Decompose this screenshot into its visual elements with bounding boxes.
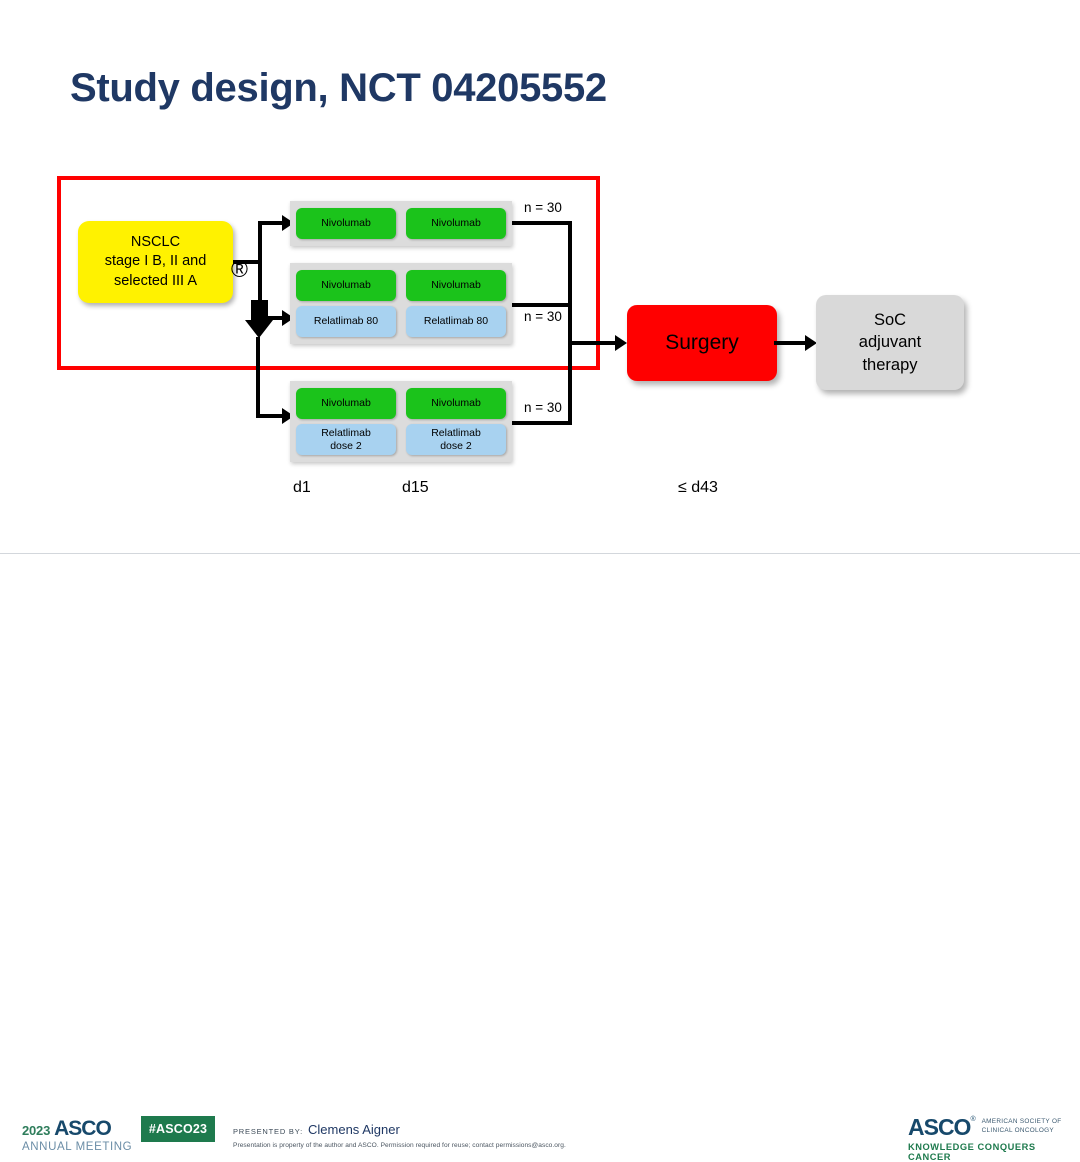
- connector-to-arm-1: [258, 221, 284, 225]
- arrow-down-icon: [245, 320, 273, 338]
- population-box: NSCLC stage I B, II and selected III A: [78, 221, 233, 303]
- population-line-2: stage I B, II and: [105, 253, 207, 269]
- drug-chip-nivolumab: Nivolumab: [406, 208, 506, 239]
- slide-footer: 2023 ASCO ANNUAL MEETING #ASCO23 PRESENT…: [0, 554, 1080, 608]
- arm-3-n-label: n = 30: [524, 400, 562, 415]
- drug-chip-relatlimab: Relatlimab dose 2: [406, 424, 506, 455]
- population-line-1: NSCLC: [131, 234, 180, 250]
- asco-annual-meeting-logo: 2023 ASCO ANNUAL MEETING: [22, 1118, 132, 1154]
- meeting-logo-year: 2023: [22, 1124, 50, 1137]
- timeline-d43: ≤ d43: [678, 479, 718, 497]
- connector-arm-3-out: [512, 421, 572, 425]
- meeting-logo-subtitle: ANNUAL MEETING: [22, 1142, 132, 1154]
- drug-chip-nivolumab: Nivolumab: [296, 388, 396, 419]
- connector-convergence-bus: [568, 221, 572, 425]
- society-logo-name: AMERICAN SOCIETY OF CLINICAL ONCOLOGY: [982, 1118, 1062, 1135]
- arm-2-n-label: n = 30: [524, 309, 562, 324]
- timeline-d15: d15: [402, 479, 429, 497]
- surgery-box: Surgery: [627, 305, 777, 381]
- connector-surgery-to-soc: [774, 341, 807, 345]
- drug-chip-nivolumab: Nivolumab: [406, 388, 506, 419]
- society-name-line-1: AMERICAN SOCIETY OF: [982, 1118, 1062, 1125]
- population-line-3: selected III A: [114, 273, 197, 289]
- drug-chip-nivolumab: Nivolumab: [296, 270, 396, 301]
- presenter-name: Clemens Aigner: [308, 1122, 400, 1137]
- treatment-arm-2: Nivolumab Nivolumab Relatlimab 80 Relatl…: [290, 263, 512, 344]
- drug-chip-nivolumab: Nivolumab: [296, 208, 396, 239]
- soc-adjuvant-therapy-box: SoC adjuvant therapy: [816, 295, 964, 390]
- presented-by-label: PRESENTED BY:: [233, 1127, 303, 1136]
- connector-to-arm-3: [256, 414, 284, 418]
- drug-chip-relatlimab: Relatlimab 80: [406, 306, 506, 337]
- society-tagline: KNOWLEDGE CONQUERS CANCER: [908, 1142, 1080, 1162]
- treatment-arm-1: Nivolumab Nivolumab: [290, 201, 512, 246]
- presented-by: PRESENTED BY: Clemens Aigner: [233, 1122, 400, 1137]
- drug-chip-nivolumab: Nivolumab: [406, 270, 506, 301]
- connector-down-to-arm-3: [256, 337, 260, 418]
- connector-thick-stem: [251, 300, 268, 322]
- drug-chip-relatlimab: Relatlimab dose 2: [296, 424, 396, 455]
- arrowhead-surgery-icon: [615, 335, 627, 351]
- meeting-logo-mark: ASCO: [54, 1118, 111, 1139]
- study-design-diagram: NSCLC stage I B, II and selected III A ®…: [0, 0, 1080, 545]
- hashtag-badge: #ASCO23: [141, 1116, 215, 1142]
- society-logo-mark: ASCO: [908, 1116, 970, 1139]
- connector-to-surgery: [568, 341, 617, 345]
- society-name-line-2: CLINICAL ONCOLOGY: [982, 1127, 1054, 1134]
- drug-chip-relatlimab: Relatlimab 80: [296, 306, 396, 337]
- registered-mark-icon: ®: [970, 1116, 975, 1123]
- connector-arm-1-out: [512, 221, 572, 225]
- permission-disclaimer: Presentation is property of the author a…: [233, 1142, 566, 1149]
- arm-1-n-label: n = 30: [524, 200, 562, 215]
- timeline-d1: d1: [293, 479, 311, 497]
- connector-arm-2-out: [512, 303, 572, 307]
- asco-society-logo: ASCO ® AMERICAN SOCIETY OF CLINICAL ONCO…: [908, 1116, 1080, 1162]
- soc-label: SoC adjuvant therapy: [859, 309, 921, 376]
- treatment-arm-3: Nivolumab Nivolumab Relatlimab dose 2 Re…: [290, 381, 512, 462]
